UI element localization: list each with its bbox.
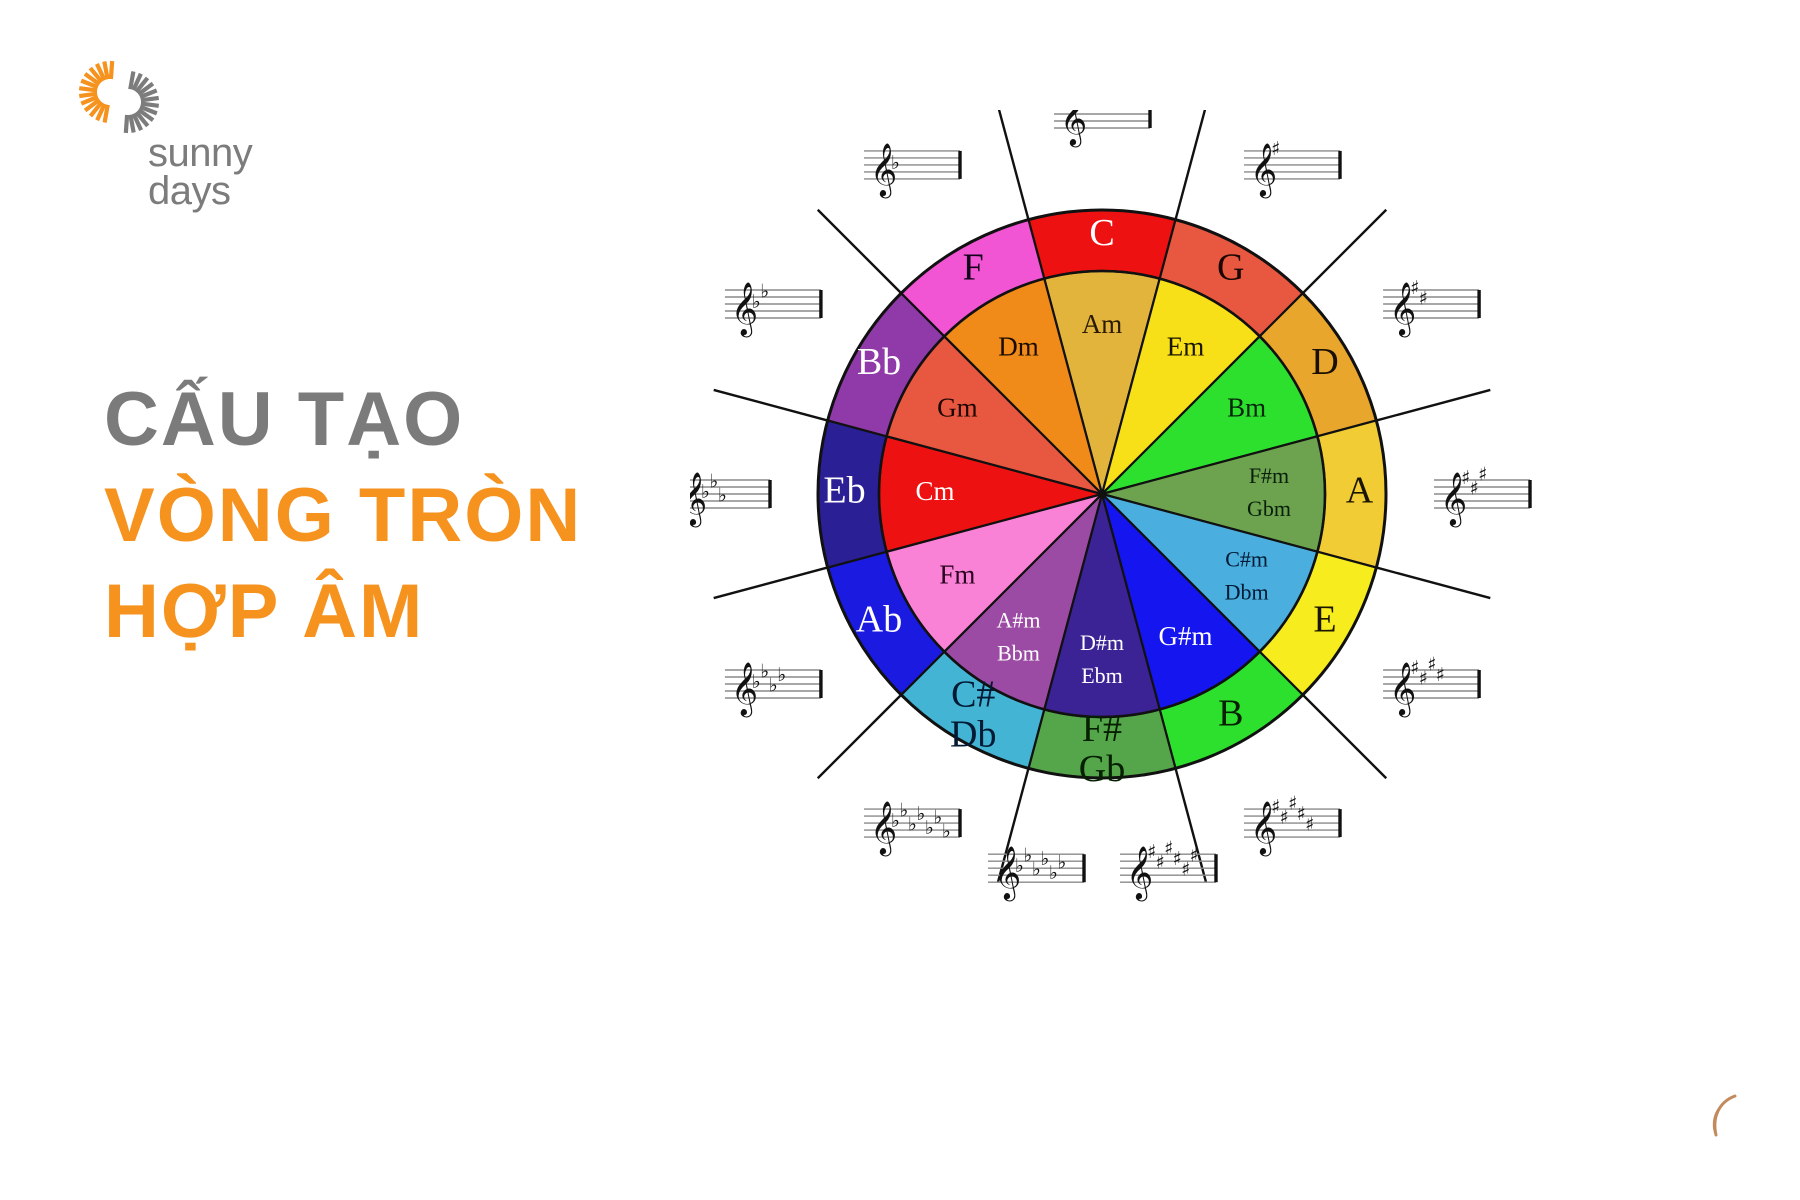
staff-right-upper: 𝄞♯♯ [1383, 277, 1479, 337]
svg-text:♯: ♯ [1189, 845, 1198, 867]
major-label-8: Ab [856, 598, 902, 640]
svg-text:𝄞: 𝄞 [1060, 110, 1087, 147]
staff-top: 𝄞 [1054, 110, 1150, 147]
svg-text:♯: ♯ [1271, 138, 1280, 160]
brand-name-line2: days [148, 172, 252, 210]
major-label-4: E [1313, 598, 1336, 640]
major-label-10: Bb [857, 341, 901, 383]
minor-label-alt-3: Gbm [1247, 496, 1291, 521]
minor-label-alt-6: Ebm [1081, 663, 1123, 688]
minor-label-7: A#m [997, 608, 1041, 633]
minor-label-2: Bm [1227, 393, 1266, 423]
brand-wordmark: sunny days [148, 134, 252, 210]
staff-left: 𝄞♭♭♭ [690, 471, 770, 528]
minor-label-alt-4: Dbm [1225, 580, 1269, 605]
staff-upper-left: 𝄞♭ [864, 142, 960, 198]
svg-text:♭: ♭ [1058, 852, 1067, 874]
spoke-line [1300, 692, 1386, 778]
major-label-5: B [1218, 693, 1243, 735]
svg-text:♭: ♭ [760, 281, 769, 303]
headline-line-3: HỢP ÂM [104, 564, 744, 660]
staff-upper-right: 𝄞♯ [1244, 138, 1340, 198]
minor-label-6: D#m [1080, 630, 1124, 655]
minor-label-10: Gm [937, 393, 978, 423]
minor-label-3: F#m [1249, 463, 1289, 488]
spoke-line [1372, 390, 1490, 422]
svg-text:♭: ♭ [891, 152, 900, 174]
brand-name-line1: sunny [148, 134, 252, 172]
svg-text:♯: ♯ [1419, 288, 1428, 310]
staff-lower-right: 𝄞♯♯♯♯♯ [1244, 793, 1340, 857]
staff-bottom-left: 𝄞♭♭♭♭♭♭♭ [864, 800, 960, 857]
spoke-line [1300, 210, 1386, 296]
major-label-0: C [1089, 212, 1114, 254]
minor-label-9: Cm [915, 476, 954, 506]
decorative-swoosh-icon [1702, 1094, 1742, 1138]
spoke-line [1372, 566, 1490, 598]
minor-label-0: Am [1082, 309, 1123, 339]
major-label-1: G [1217, 247, 1244, 289]
major-label-3: A [1346, 470, 1374, 512]
sunburst-icon [62, 46, 172, 136]
spoke-line [1174, 110, 1206, 224]
spoke-line [818, 210, 904, 296]
headline-line-2: VÒNG TRÒN [104, 468, 744, 564]
svg-text:♭: ♭ [777, 664, 786, 686]
spoke-line [714, 566, 832, 598]
staff-left-upper: 𝄞♭♭ [725, 281, 821, 338]
staff-bottom: 𝄞♭♭♭♭♭♭ [988, 845, 1084, 902]
staff-right: 𝄞♯♯♯ [1434, 464, 1530, 528]
brand-logo[interactable]: sunny days [52, 46, 282, 211]
page-title: CẤU TẠO VÒNG TRÒN HỢP ÂM [104, 372, 744, 660]
major-label-9: Eb [823, 470, 865, 512]
minor-label-1: Em [1167, 332, 1205, 362]
spoke-line [998, 110, 1030, 224]
headline-line-1: CẤU TẠO [104, 372, 744, 468]
major-label-7: C# [951, 674, 995, 716]
major-label-alt-7: Db [950, 714, 996, 756]
svg-text:♭: ♭ [718, 485, 727, 507]
circle-of-fifths-diagram: 𝄞𝄞♯𝄞♯♯𝄞♯♯♯𝄞♯♯♯♯𝄞♯♯♯♯♯𝄞♯♯♯♯♯♯𝄞♭♭♭♭♭♭𝄞♭♭♭♭… [690, 110, 1760, 940]
major-label-2: D [1311, 341, 1338, 383]
spoke-line [818, 692, 904, 778]
staff-lower-left: 𝄞♭♭♭♭ [725, 661, 821, 718]
minor-label-8: Fm [939, 560, 975, 590]
staff-right-lower: 𝄞♯♯♯♯ [1383, 654, 1479, 718]
major-label-6: F# [1082, 708, 1122, 750]
major-label-11: F [963, 247, 984, 289]
minor-label-5: G#m [1159, 621, 1213, 651]
major-label-alt-6: Gb [1079, 748, 1125, 790]
minor-label-11: Dm [998, 332, 1039, 362]
minor-label-4: C#m [1225, 547, 1268, 572]
svg-text:♯: ♯ [1436, 664, 1445, 686]
minor-label-alt-7: Bbm [997, 641, 1040, 666]
spoke-line [714, 390, 832, 422]
svg-text:♯: ♯ [1478, 464, 1487, 486]
svg-text:♭: ♭ [942, 821, 951, 843]
svg-text:♯: ♯ [1305, 814, 1314, 836]
